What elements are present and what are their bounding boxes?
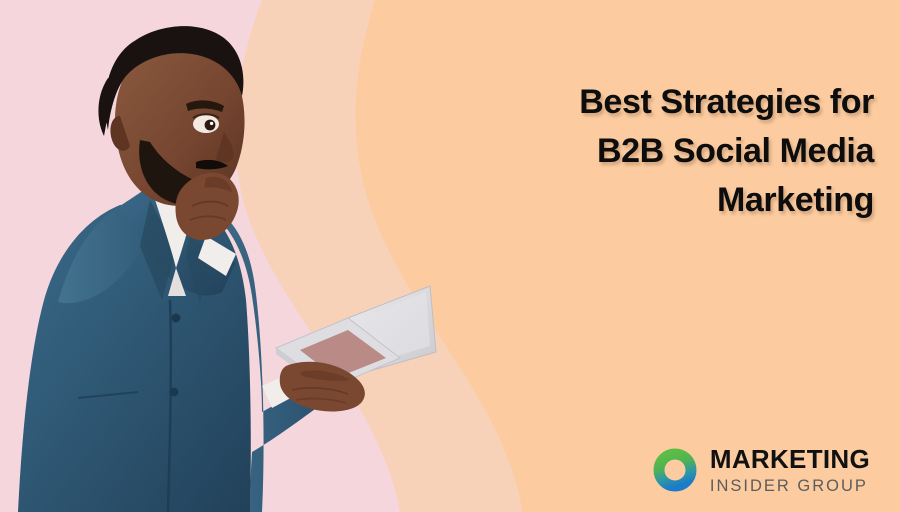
logo-secondary-text: INSIDER GROUP	[710, 478, 870, 495]
headline: Best Strategies for B2B Social Media Mar…	[454, 78, 874, 225]
logo-primary-text: MARKETING	[710, 446, 870, 472]
headline-line-3: Marketing	[454, 176, 874, 225]
ring-icon	[653, 448, 697, 492]
headline-line-1: Best Strategies for	[454, 78, 874, 127]
brand-logo: MARKETING INSIDER GROUP	[653, 446, 870, 495]
photo-businessman	[0, 0, 470, 512]
social-media-banner: Best Strategies for B2B Social Media Mar…	[0, 0, 900, 512]
logo-wordmark: MARKETING INSIDER GROUP	[710, 446, 870, 495]
headline-line-2: B2B Social Media	[454, 127, 874, 176]
